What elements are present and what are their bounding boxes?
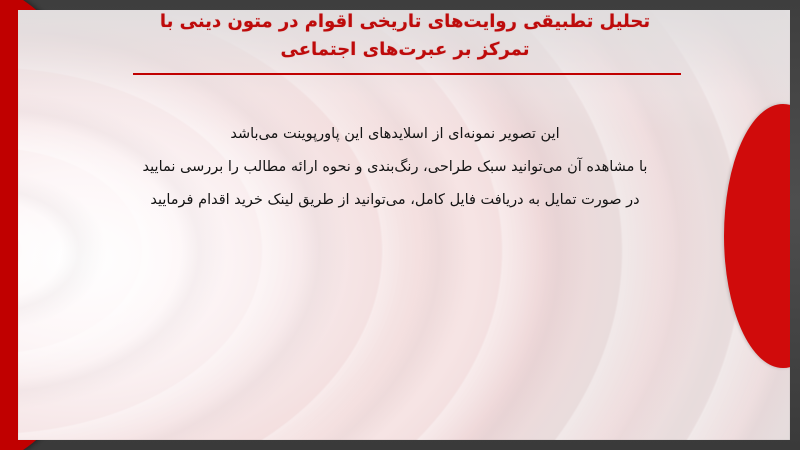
red-ellipse-right-icon <box>724 104 790 368</box>
body-line-2: با مشاهده آن می‌توانید سبک طراحی، رنگ‌بن… <box>110 151 680 184</box>
slide-title-line-2: تمرکز بر عبرت‌های اجتماعی <box>120 36 690 64</box>
title-divider-rule <box>133 73 681 75</box>
body-line-3: در صورت تمایل به دریافت فایل کامل، می‌تو… <box>110 184 680 217</box>
slide-body-text: این تصویر نمونه‌ای از اسلایدهای این پاور… <box>110 118 680 217</box>
slide-title-line-1: تحلیل تطبیقی روایت‌های تاریخی اقوام در م… <box>120 8 690 36</box>
body-line-1: این تصویر نمونه‌ای از اسلایدهای این پاور… <box>110 118 680 151</box>
slide-title: تحلیل تطبیقی روایت‌های تاریخی اقوام در م… <box>120 8 690 64</box>
presentation-slide: تحلیل تطبیقی روایت‌های تاریخی اقوام در م… <box>0 0 800 450</box>
